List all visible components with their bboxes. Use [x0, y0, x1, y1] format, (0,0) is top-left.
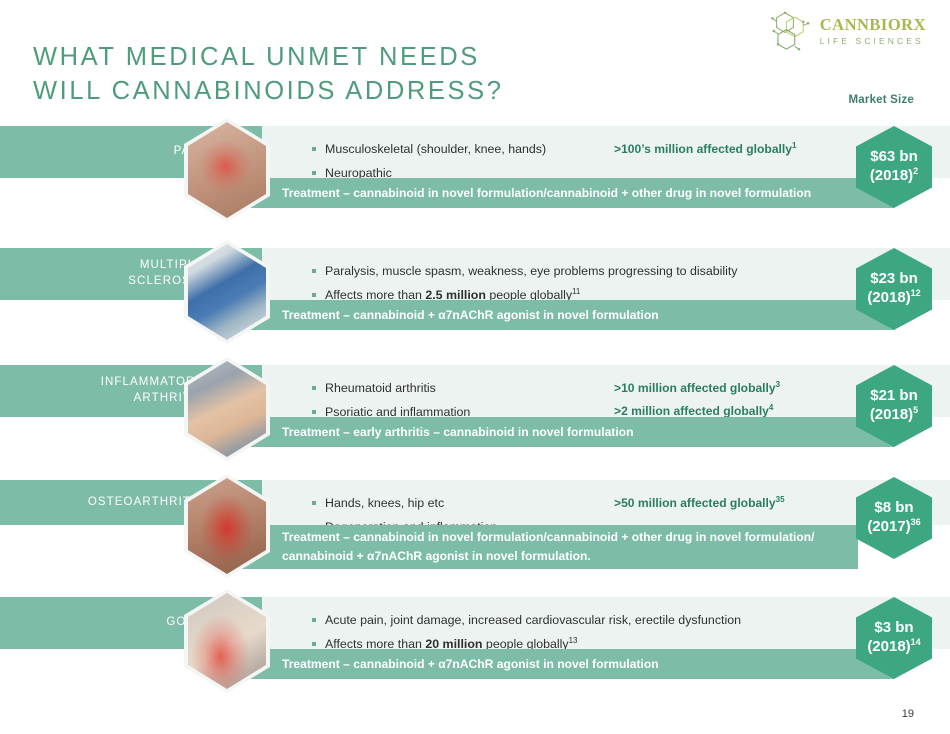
prevalence-stats: >100’s million affected globally1 [614, 140, 796, 163]
bullet-square-icon [312, 642, 316, 646]
market-size-label: Market Size [849, 94, 914, 106]
symptom-text: Acute pain, joint damage, increased card… [325, 611, 741, 630]
treatment-bar: Treatment – cannabinoid in novel formula… [232, 178, 894, 208]
symptom-text: Rheumatoid arthritis [325, 379, 436, 398]
symptom-item: Acute pain, joint damage, increased card… [312, 611, 741, 630]
disease-row: MULTIPLE SCLEROSISParalysis, muscle spas… [0, 248, 950, 330]
company-logo: CANNBIORX LIFE SCIENCES [771, 10, 926, 52]
prevalence-stat: >10 million affected globally3 [614, 379, 780, 397]
hexagon-molecule-icon [771, 10, 813, 52]
symptom-text: Paralysis, muscle spasm, weakness, eye p… [325, 262, 738, 281]
market-value: $21 bn [870, 387, 918, 406]
treatment-bar: Treatment – cannabinoid + α7nAChR agonis… [232, 300, 894, 330]
bullet-square-icon [312, 618, 316, 622]
symptom-item: Paralysis, muscle spasm, weakness, eye p… [312, 262, 738, 281]
treatment-bar: Treatment – cannabinoid in novel formula… [232, 525, 858, 569]
market-year: (2018)14 [867, 638, 920, 657]
symptom-text: Hands, knees, hip etc [325, 494, 444, 513]
row-content: Paralysis, muscle spasm, weakness, eye p… [262, 248, 950, 300]
bullet-square-icon [312, 410, 316, 414]
row-content: Acute pain, joint damage, increased card… [262, 597, 950, 649]
market-year: (2018)2 [870, 167, 918, 186]
row-content: Rheumatoid arthritisPsoriatic and inflam… [262, 365, 950, 417]
market-value: $23 bn [870, 270, 918, 289]
market-year: (2018)12 [867, 289, 920, 308]
bullet-square-icon [312, 147, 316, 151]
disease-row: OSTEOARTHRITISHands, knees, hip etcDegen… [0, 480, 950, 569]
logo-tagline: LIFE SCIENCES [820, 37, 926, 46]
bullet-square-icon [312, 386, 316, 390]
page-number: 19 [902, 708, 914, 720]
disease-row: INFLAMMATORY ARTHRITISRheumatoid arthrit… [0, 365, 950, 447]
market-year: (2017)36 [867, 518, 920, 537]
page-title: WHAT MEDICAL UNMET NEEDS WILL CANNABINOI… [33, 40, 504, 109]
market-value: $8 bn [874, 499, 913, 518]
bullet-square-icon [312, 171, 316, 175]
symptom-item: Hands, knees, hip etc [312, 494, 497, 513]
symptom-item: Musculoskeletal (shoulder, knee, hands) [312, 140, 546, 159]
treatment-bar: Treatment – cannabinoid + α7nAChR agonis… [232, 649, 894, 679]
prevalence-stat: >50 million affected globally35 [614, 494, 785, 512]
logo-name: CANNBIORX [820, 17, 926, 34]
prevalence-stat: >100’s million affected globally1 [614, 140, 796, 158]
disease-row: PAINMusculoskeletal (shoulder, knee, han… [0, 126, 950, 208]
bullet-square-icon [312, 293, 316, 297]
prevalence-stats: >50 million affected globally35 [614, 494, 785, 517]
row-content: Musculoskeletal (shoulder, knee, hands)N… [262, 126, 950, 178]
market-value: $3 bn [874, 619, 913, 638]
symptom-item: Rheumatoid arthritis [312, 379, 470, 398]
market-year: (2018)5 [870, 406, 918, 425]
row-content: Hands, knees, hip etcDegeneration and in… [262, 480, 950, 525]
disease-row: GOUTAcute pain, joint damage, increased … [0, 597, 950, 679]
treatment-bar: Treatment – early arthritis – cannabinoi… [232, 417, 894, 447]
market-value: $63 bn [870, 148, 918, 167]
bullet-square-icon [312, 501, 316, 505]
symptom-text: Musculoskeletal (shoulder, knee, hands) [325, 140, 546, 159]
bullet-square-icon [312, 269, 316, 273]
